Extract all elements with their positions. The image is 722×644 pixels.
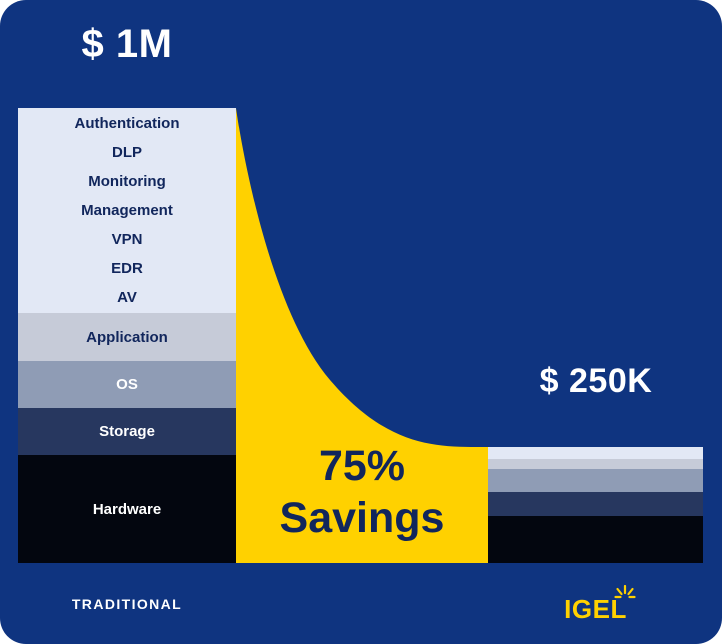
- infographic-card: $ 1M Authentication DLP Monitoring Manag…: [0, 0, 722, 644]
- stack-band-label: Storage: [99, 423, 155, 440]
- stack-band-label: OS: [116, 376, 138, 393]
- savings-callout: 75% Savings: [236, 440, 488, 544]
- starburst-icon: [614, 585, 636, 603]
- igel-stack: [488, 447, 703, 563]
- security-layer-item: AV: [117, 283, 137, 312]
- security-layer-item: Management: [81, 196, 173, 225]
- security-layer-item: Monitoring: [88, 167, 165, 196]
- security-layer-item: Authentication: [75, 109, 180, 138]
- left-column-value: $ 1M: [18, 22, 236, 67]
- security-layer-item: DLP: [112, 138, 142, 167]
- security-layer-item: VPN: [112, 225, 143, 254]
- left-column-caption: TRADITIONAL: [18, 596, 236, 612]
- stack-band-security: Authentication DLP Monitoring Management…: [18, 108, 236, 313]
- stack-band-os: OS: [18, 361, 236, 408]
- right-column-value: $ 250K: [488, 362, 704, 401]
- stack-band-hardware: Hardware: [18, 455, 236, 563]
- igel-logo: IGEL: [488, 588, 703, 630]
- stack-band-label: Application: [86, 329, 168, 346]
- stack-band-application: [488, 459, 703, 469]
- logo-mark: IGEL: [564, 596, 627, 623]
- savings-word: Savings: [236, 492, 488, 544]
- stack-band-label: Hardware: [93, 501, 161, 518]
- stack-band-storage: Storage: [18, 408, 236, 455]
- stack-band-storage: [488, 492, 703, 516]
- stack-band-hardware: [488, 516, 703, 563]
- stack-band-application: Application: [18, 313, 236, 361]
- stack-band-security: [488, 447, 703, 459]
- traditional-stack: Authentication DLP Monitoring Management…: [18, 108, 236, 563]
- savings-percent: 75%: [236, 440, 488, 492]
- stack-band-os: [488, 469, 703, 492]
- security-layer-item: EDR: [111, 254, 143, 283]
